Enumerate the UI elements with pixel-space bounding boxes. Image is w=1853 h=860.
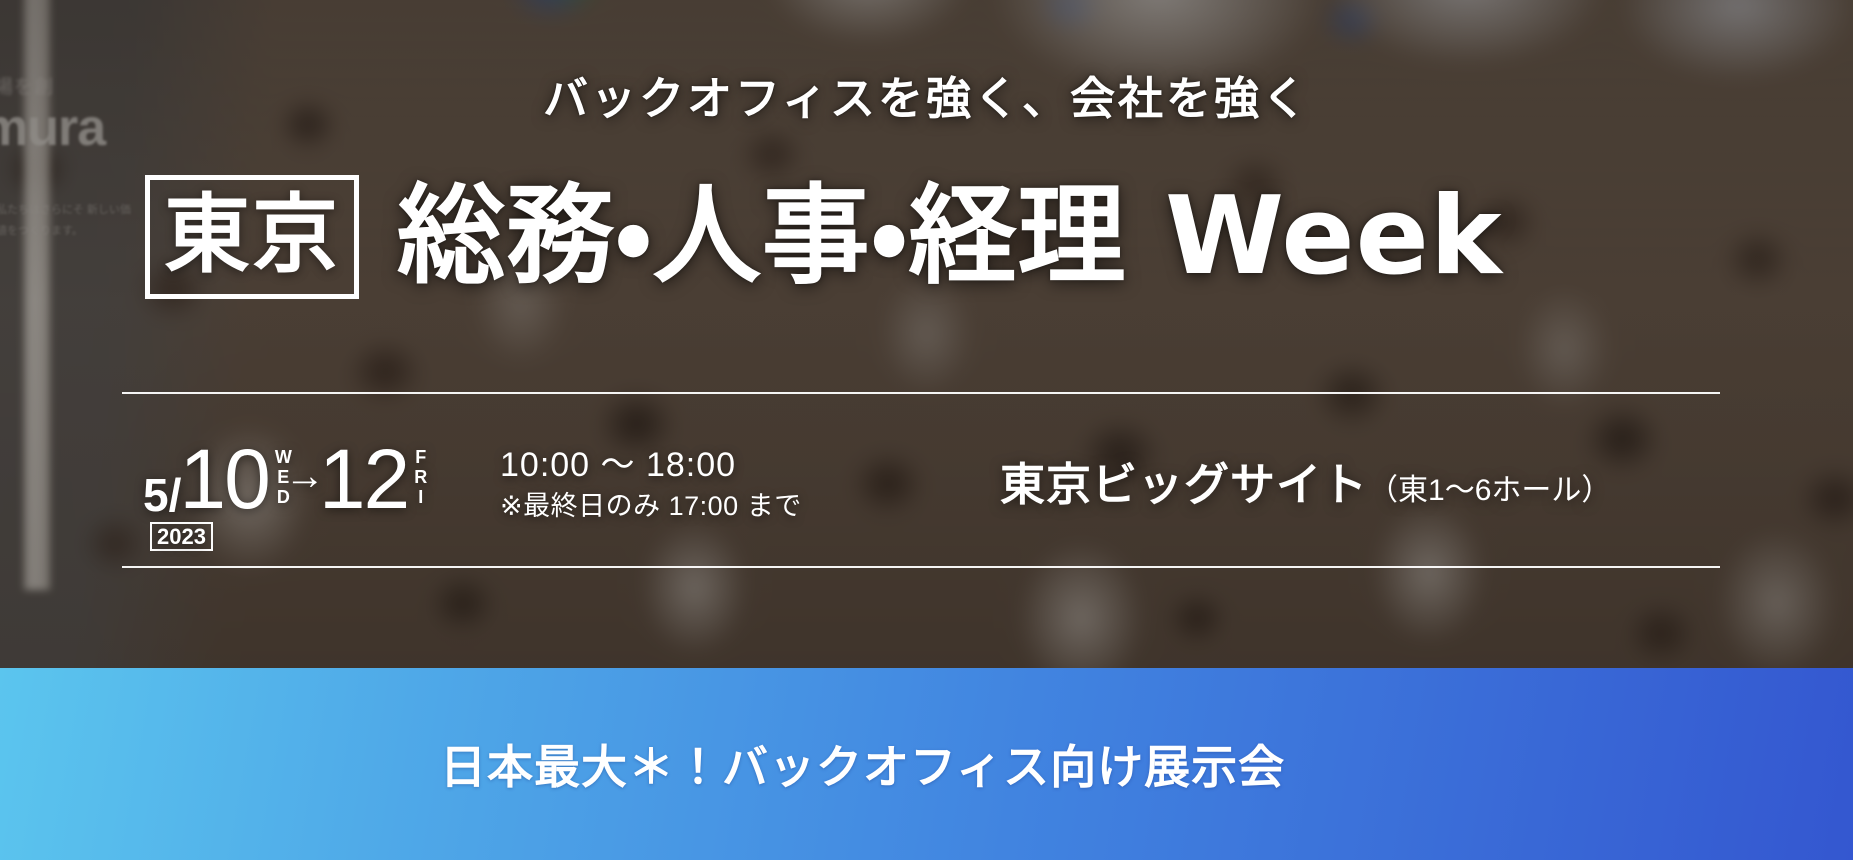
hero-tagline: バックオフィスを強く、会社を強く [0,62,1853,127]
date-month: 5/ [143,469,181,521]
event-time-block: 10:00 ～ 18:00 ※最終日のみ 17:00 まで [500,444,802,524]
event-venue-block: 東京ビッグサイト （東1～6ホール） [1000,448,1611,513]
divider-bottom [122,566,1720,568]
tokyo-badge: 東京 [145,175,359,299]
event-hours: 10:00 ～ 18:00 [500,444,802,488]
hero-info-row: 5/ 2023 10 W E D → 12 F R I [0,400,1853,566]
dow-end-letter-r: R [414,467,428,487]
date-day-end: 12 [319,442,408,518]
venue-halls: （東1～6ホール） [1368,465,1611,509]
dow-end-letter-f: F [415,447,427,467]
divider-top [122,392,1720,394]
bottom-banner: 日本最大＊！バックオフィス向け展示会 [0,668,1853,860]
banner-headline: 日本最大＊！バックオフィス向け展示会 [440,731,1285,797]
page-title: 総務・人事・経理 Week [397,183,1503,291]
dow-end-letter-i: I [418,487,424,507]
hero-content: バックオフィスを強く、会社を強く 東京 総務・人事・経理 Week 5/ 202… [0,0,1853,668]
event-hero-page: 場を創 mura 私たちはさらにそ 新しい価値をつくります。 バックオフィスを強… [0,0,1853,860]
hero-title-row: 東京 総務・人事・経理 Week [145,175,1503,299]
event-hours-note: ※最終日のみ 17:00 まで [500,488,802,524]
date-year: 2023 [150,522,213,551]
event-date-block: 5/ 2023 10 W E D → 12 F R I [143,442,430,518]
venue-name: 東京ビッグサイト [1000,448,1368,513]
hero-section: 場を創 mura 私たちはさらにそ 新しい価値をつくります。 バックオフィスを強… [0,0,1853,668]
date-dow-end: F R I [414,447,428,507]
date-day-start: 10 [179,442,268,518]
